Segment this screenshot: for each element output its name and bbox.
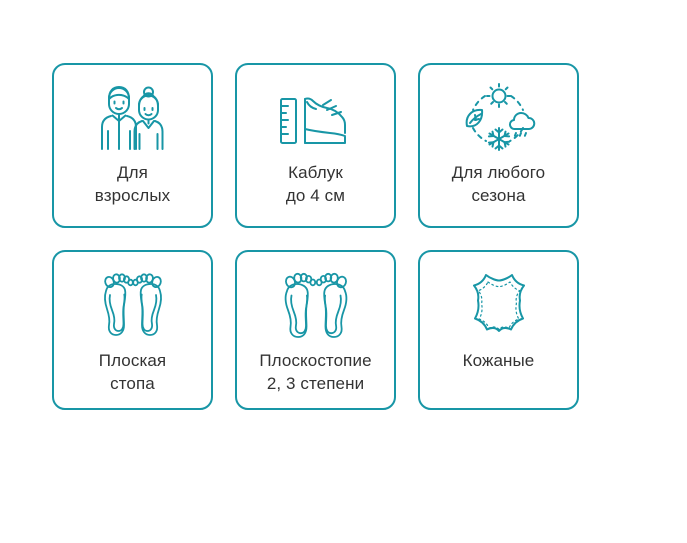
ruler-shoe-icon [274,82,358,154]
feature-card-label: Кожаные [463,349,535,372]
feature-card-any-season[interactable]: Для любого сезона [418,63,579,228]
footprints-narrow-icon [91,269,175,345]
feature-card-label: Каблук до 4 см [286,161,345,207]
feature-cards-board: Для взрослых [0,0,687,543]
feature-card-flat-foot[interactable]: Плоская стопа [52,250,213,410]
feature-card-label: Для любого сезона [452,161,546,207]
feature-cards-grid: Для взрослых [52,63,583,410]
feature-card-heel-height[interactable]: Каблук до 4 см [235,63,396,228]
footprints-wide-icon [274,269,358,345]
feature-card-label: Плоская стопа [99,349,166,395]
feature-card-for-adults[interactable]: Для взрослых [52,63,213,228]
feature-card-label: Для взрослых [95,161,170,207]
feature-card-leather[interactable]: Кожаные [418,250,579,410]
leather-hide-icon [457,269,541,345]
four-seasons-icon [457,82,541,154]
couple-icon [91,82,175,154]
feature-card-label: Плоскостопие 2, 3 степени [259,349,371,395]
feature-card-flatfoot-degree[interactable]: Плоскостопие 2, 3 степени [235,250,396,410]
